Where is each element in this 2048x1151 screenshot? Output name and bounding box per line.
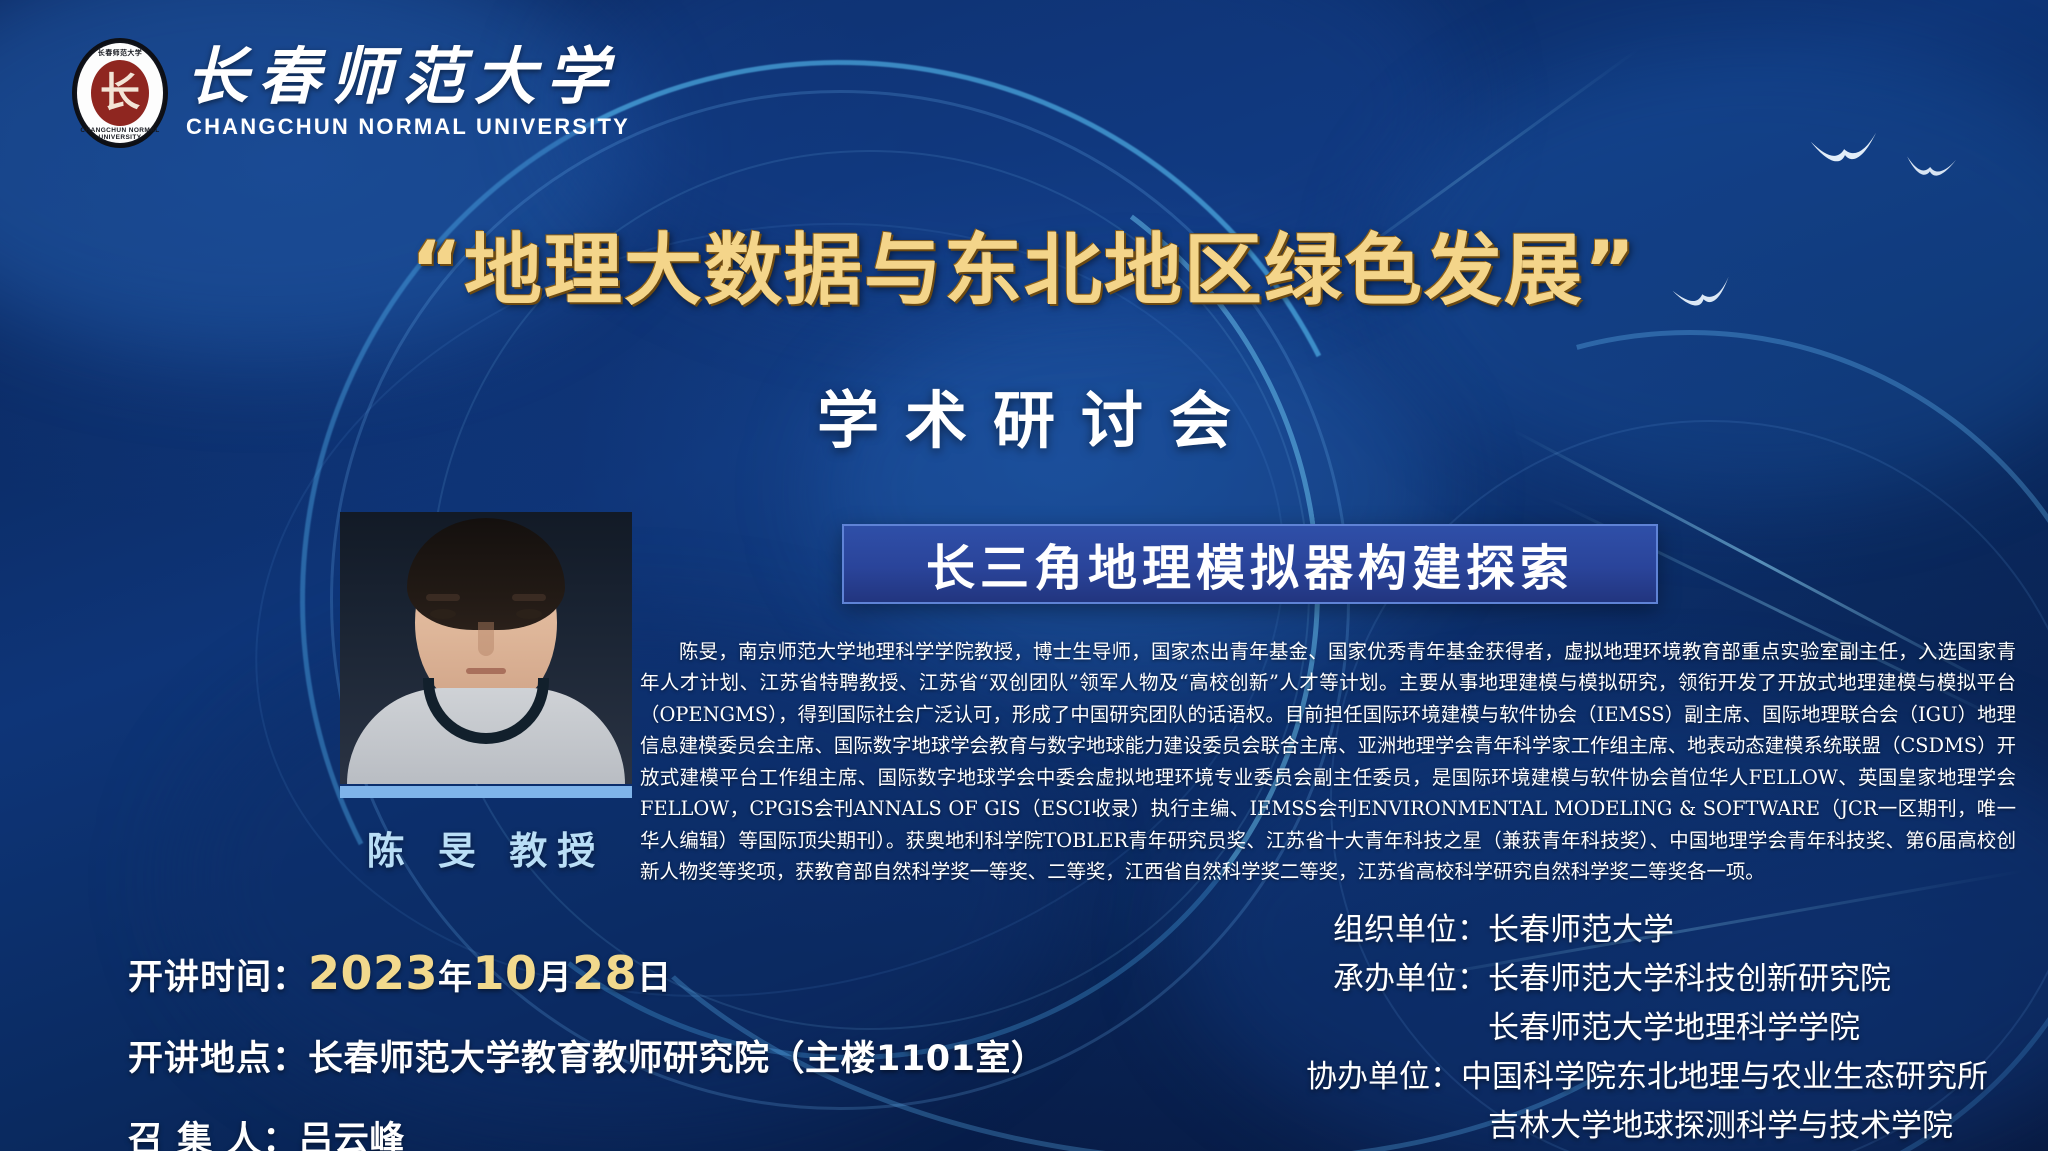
coorganizer-value-1: 中国科学院东北地理与农业生态研究所: [1461, 1051, 1988, 1096]
university-brand: 长春师范大学 长 CHANGCHUN NORMAL UNIVERSITY 长春师…: [72, 38, 630, 148]
convener-label: 召 集 人：: [128, 1111, 298, 1151]
coorganizer-label: 协办单位：: [1306, 1051, 1461, 1096]
host-value-1: 长春师范大学科技创新研究院: [1488, 953, 1988, 998]
info-row-time: 开讲时间： 2023年10月28日: [128, 946, 1046, 1000]
crest-monogram: 长: [100, 73, 140, 113]
talk-title-text: 长三角地理模拟器构建探索: [926, 529, 1574, 600]
time-year-unit: 年: [438, 958, 473, 998]
time-day-unit: 日: [637, 958, 672, 998]
convener-value: 吕云峰: [298, 1111, 405, 1151]
crest-arc-bottom-text: CHANGCHUN NORMAL UNIVERSITY: [72, 127, 168, 141]
poster-subtitle: 学术研讨会: [0, 370, 2048, 460]
talk-title-banner: 长三角地理模拟器构建探索: [842, 524, 1658, 604]
unit-row-organizer: 组织单位： 长春师范大学: [1306, 904, 1988, 949]
coorganizer-value-2: 吉林大学地球探测科学与技术学院: [1488, 1100, 1988, 1145]
speaker-name: 陈 旻 教授: [340, 820, 632, 875]
place-label: 开讲地点：: [128, 1030, 308, 1081]
event-info-block: 开讲时间： 2023年10月28日 开讲地点： 长春师范大学教育教师研究院（主楼…: [128, 946, 1046, 1151]
time-month-unit: 月: [538, 958, 573, 998]
speaker-portrait: [340, 512, 632, 784]
place-value: 长春师范大学教育教师研究院（主楼1101室）: [308, 1030, 1046, 1081]
seagull-icon: [1806, 113, 1884, 182]
info-row-convener: 召 集 人： 吕云峰: [128, 1111, 1046, 1151]
university-name-cn: 长春师范大学: [186, 46, 630, 108]
host-value-2: 长春师范大学地理科学学院: [1488, 1002, 1988, 1047]
info-row-place: 开讲地点： 长春师范大学教育教师研究院（主楼1101室）: [128, 1030, 1046, 1081]
time-month: 10: [473, 946, 538, 1000]
time-day: 28: [572, 946, 637, 1000]
time-label: 开讲时间：: [128, 949, 308, 1000]
organizing-units-block: 组织单位： 长春师范大学 承办单位： 长春师范大学科技创新研究院 长春师范大学地…: [1306, 904, 1988, 1151]
unit-row-host-2: 长春师范大学地理科学学院: [1306, 1002, 1988, 1047]
crest-arc-top-text: 长春师范大学: [72, 48, 168, 58]
speaker-photo-block: 陈 旻 教授: [340, 512, 632, 875]
unit-row-coorganizer-2: 吉林大学地球探测科学与技术学院: [1306, 1100, 1988, 1145]
poster-root: 长春师范大学 长 CHANGCHUN NORMAL UNIVERSITY 长春师…: [0, 0, 2048, 1151]
time-value: 2023年10月28日: [308, 946, 672, 1000]
university-crest-icon: 长春师范大学 长 CHANGCHUN NORMAL UNIVERSITY: [72, 38, 168, 148]
time-year: 2023: [308, 946, 438, 1000]
unit-row-host: 承办单位： 长春师范大学科技创新研究院: [1306, 953, 1988, 998]
speaker-biography: 陈旻，南京师范大学地理科学学院教授，博士生导师，国家杰出青年基金、国家优秀青年基…: [640, 636, 2016, 888]
poster-main-title: “地理大数据与东北地区绿色发展”: [0, 232, 2048, 310]
background-nebula: [820, 300, 1440, 680]
unit-row-coorganizer: 协办单位： 中国科学院东北地理与农业生态研究所: [1306, 1051, 1988, 1096]
university-name-en: CHANGCHUN NORMAL UNIVERSITY: [186, 114, 630, 140]
portrait-underline: [340, 786, 632, 798]
seagull-icon: [1904, 142, 1959, 190]
organizer-label: 组织单位：: [1333, 904, 1488, 949]
organizer-value: 长春师范大学: [1488, 904, 1988, 949]
host-label: 承办单位：: [1333, 953, 1488, 998]
